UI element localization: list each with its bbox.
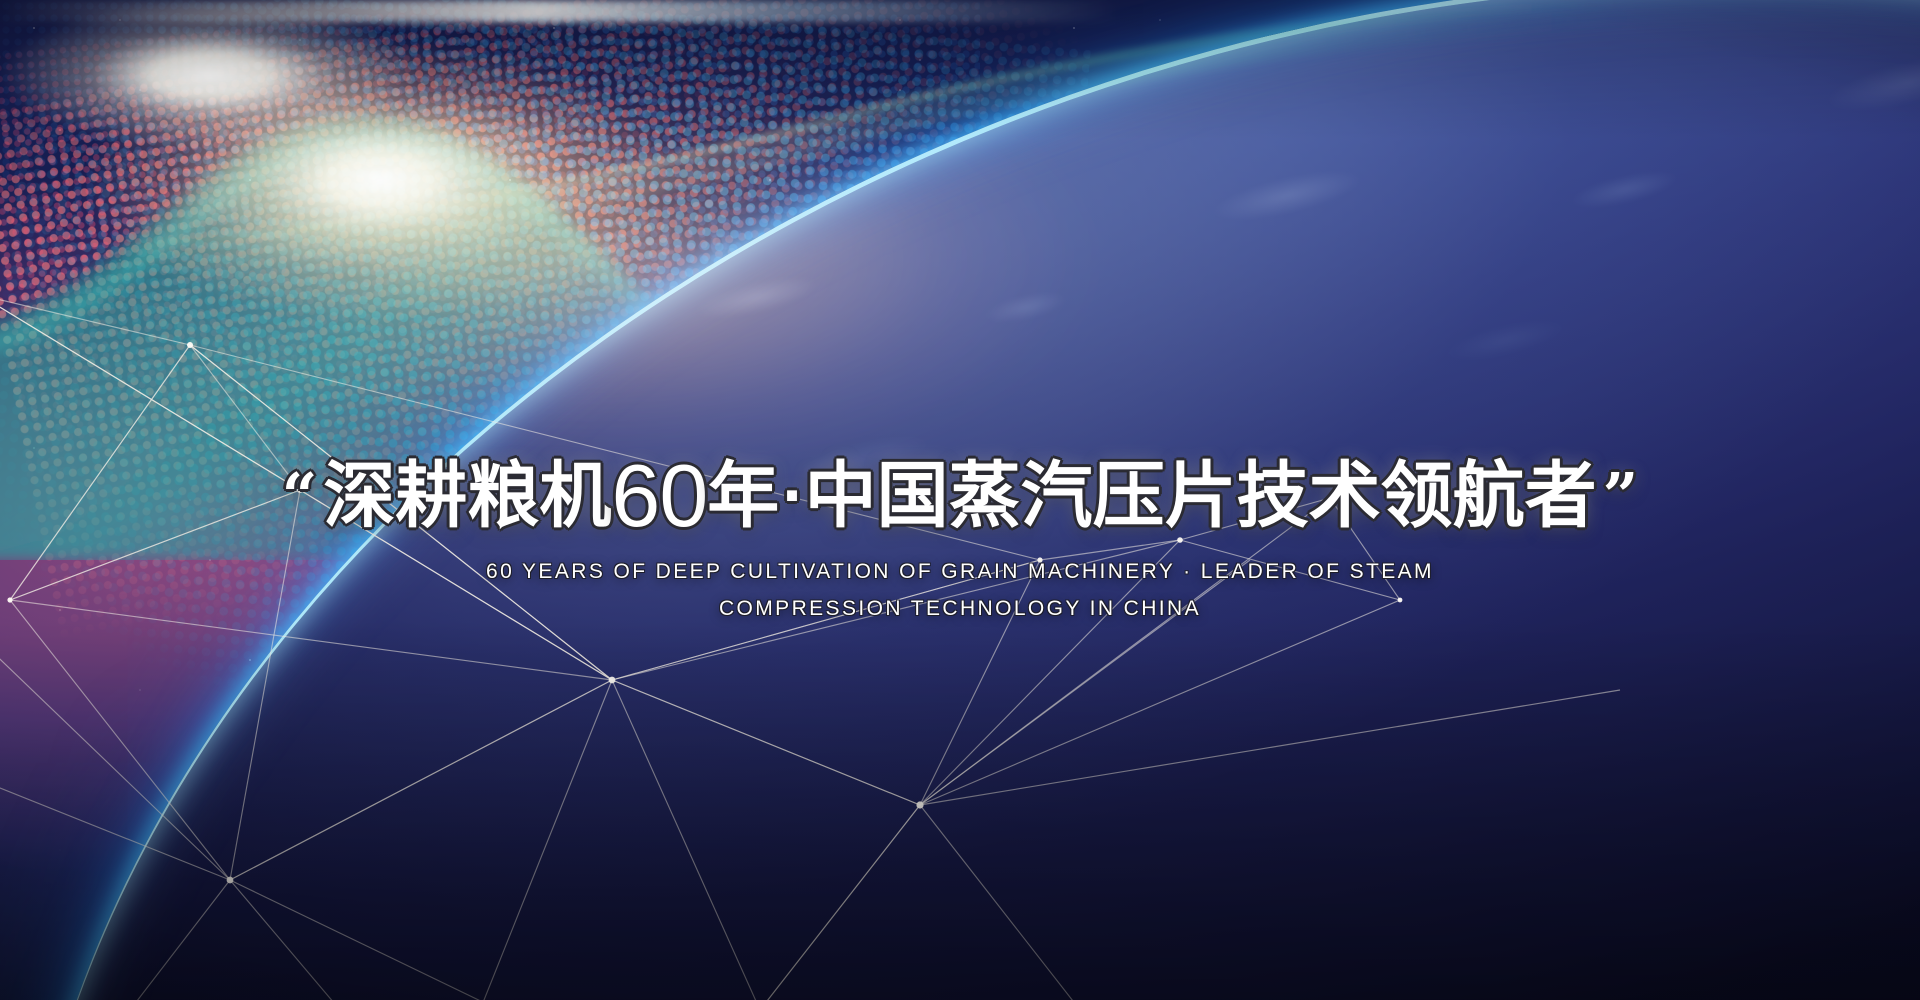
subtitle-line-1: 60 YEARS OF DEEP CULTIVATION OF GRAIN MA… [0,560,1920,584]
warm-halftone-wave-secondary [0,0,1020,481]
sun-flare-glow [0,0,760,360]
open-quote: “ [282,459,318,532]
binary-code-strip: 0 1 0 0 1 0 0 1 0 1 0 0 1 0 [0,227,1920,264]
cool-halftone-wave [0,0,1091,805]
banner-canvas: 0 1 0 0 1 0 0 1 0 1 0 0 1 0 [0,0,1920,1000]
sunrise-warm-wash [0,0,1180,520]
close-quote: ” [1603,459,1639,532]
sun-flare-core [0,0,420,150]
headline-part-1: 深耕粮机 [323,454,611,538]
headline-separator: · [781,464,802,529]
cool-halftone-wave-secondary [0,0,980,520]
headline-part-2: 年 [707,454,779,538]
headline-part-3: 中国蒸汽压片技术领航者 [805,454,1597,538]
gold-green-swoosh [0,0,1920,340]
sun-horizontal-streak [0,0,1120,22]
headline-number: 60 [611,446,707,545]
subtitle-line-2: COMPRESSION TECHNOLOGY IN CHINA [0,597,1920,621]
page-title: “深耕粮机60年·中国蒸汽压片技术领航者” [0,452,1920,540]
headline-block: “深耕粮机60年·中国蒸汽压片技术领航者” 60 YEARS OF DEEP C… [0,452,1920,621]
